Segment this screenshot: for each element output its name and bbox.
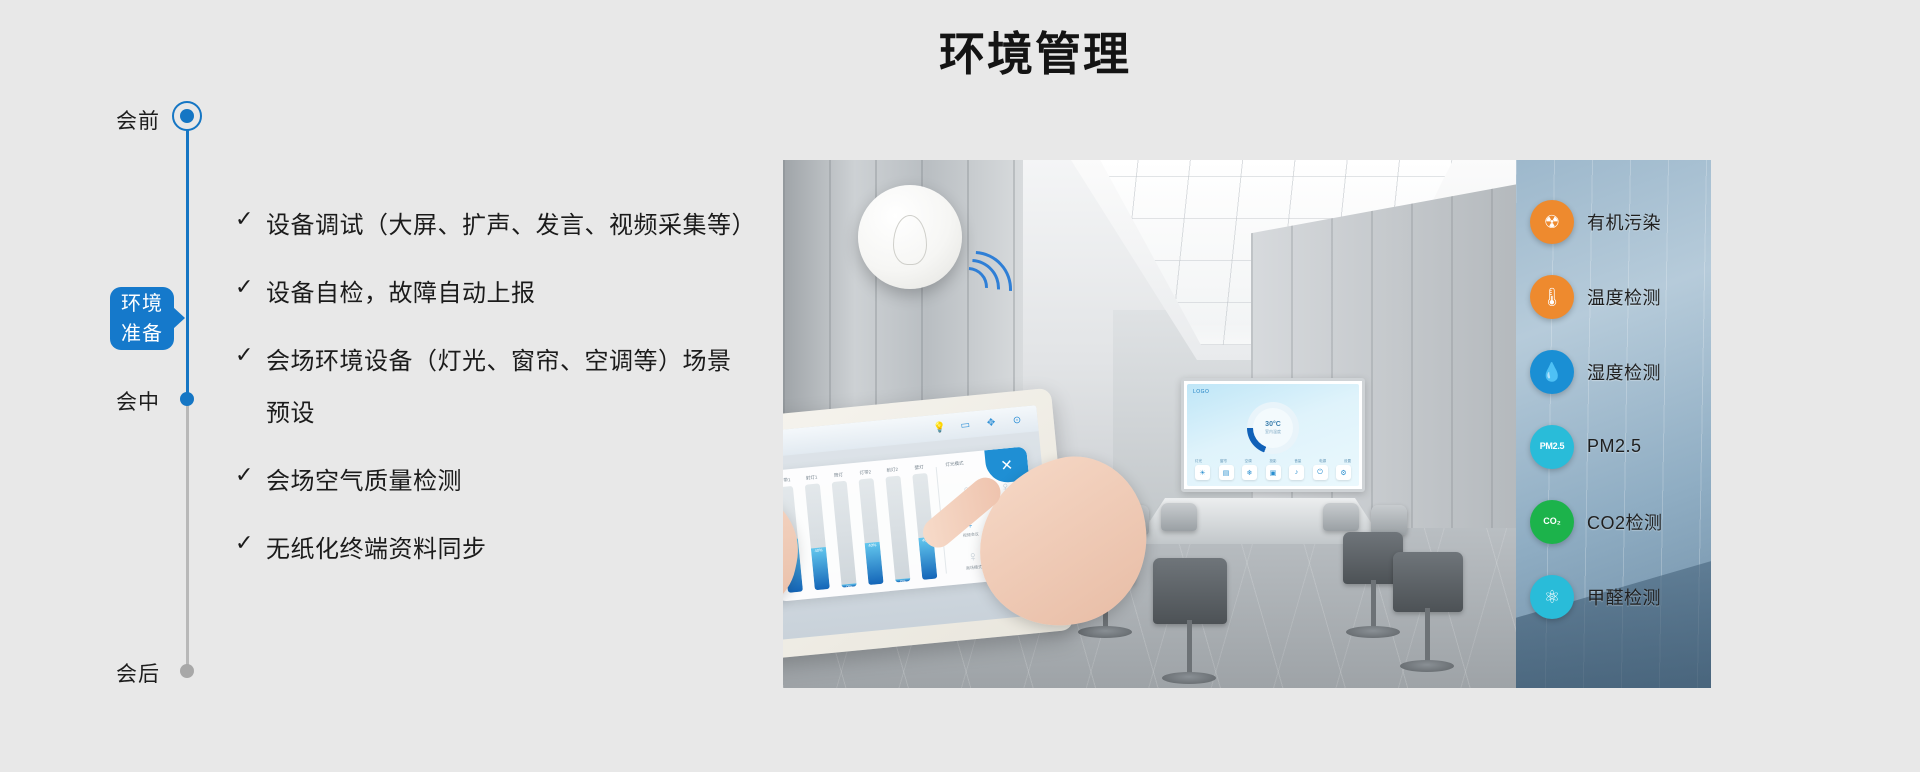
display-curtain-icon[interactable]: ▤ <box>1219 465 1234 480</box>
chair-base <box>1346 626 1400 638</box>
timeline-dot-icon <box>180 109 194 123</box>
scene-label: 离场模式 <box>966 564 983 572</box>
display-icon-label: 音量 <box>1294 459 1301 464</box>
chair-stem <box>1425 608 1430 664</box>
display-icon-labels: 灯光 窗帘 空调 投影 音量 电源 设置 <box>1195 459 1351 464</box>
co2-icon-text: CO₂ <box>1543 517 1561 526</box>
slider-value: 40% <box>811 547 826 553</box>
chair <box>1371 505 1407 535</box>
slider-value: 40% <box>865 541 880 547</box>
slider-caption: 射灯1 <box>806 475 818 482</box>
chair-stem <box>1371 580 1376 632</box>
sensor-list: ☢ 有机污染 🌡 温度检测 💧 湿度检测 PM2.5 PM2.5 CO₂ CO2… <box>1530 184 1705 634</box>
stage-badge-line1: 环境 <box>110 289 174 319</box>
list-item-label: 设备调试（大屏、扩声、发言、视频采集等） <box>266 200 752 252</box>
timeline: 会前 会中 会后 环境 准备 <box>0 0 260 772</box>
timeline-label-during: 会中 <box>40 386 160 416</box>
check-icon: ✓ <box>232 200 266 238</box>
tablet-curtain-icon[interactable]: ▭ <box>958 418 972 432</box>
tablet-light-icon[interactable]: 💡 <box>932 420 946 434</box>
temperature-gauge: 30°C 室内温度 <box>1247 402 1299 454</box>
scene-section-label: 灯光模式 <box>945 460 963 468</box>
pm25-cloud-icon: PM2.5 <box>1530 425 1574 469</box>
display-icon-label: 窗帘 <box>1220 459 1227 464</box>
check-icon: ✓ <box>232 268 266 306</box>
timeline-dot-icon <box>180 392 194 406</box>
sensor-label: 有机污染 <box>1587 209 1661 235</box>
stage-badge: 环境 准备 <box>110 287 174 350</box>
list-item-label: 会场空气质量检测 <box>266 456 462 508</box>
display-power-icon[interactable]: ⏻ <box>1313 465 1328 480</box>
slider-track[interactable]: 40% <box>859 478 884 585</box>
radiation-icon: ☢ <box>1530 200 1574 244</box>
temperature-gauge-inner: 30°C 室内温度 <box>1253 408 1293 448</box>
light-slider[interactable]: 筒灯 0% <box>830 472 858 588</box>
signal-waves-icon <box>948 245 1038 335</box>
chair <box>1161 503 1197 531</box>
scene-label: 视频会议 <box>963 531 980 539</box>
molecule-icon: ⚛ <box>1530 575 1574 619</box>
chair-stem <box>1187 620 1192 676</box>
slider-value: 0% <box>895 578 910 583</box>
display-settings-icon[interactable]: ⚙ <box>1336 465 1351 480</box>
display-ac-icon[interactable]: ❄ <box>1242 465 1257 480</box>
sensor-item-co2[interactable]: CO₂ CO2检测 <box>1530 484 1705 559</box>
chair-base <box>1078 626 1132 638</box>
chair-base <box>1162 672 1216 684</box>
co2-cloud-icon: CO₂ <box>1530 500 1574 544</box>
temperature-caption: 室内温度 <box>1265 429 1281 435</box>
sensor-overlay-panel: ☢ 有机污染 🌡 温度检测 💧 湿度检测 PM2.5 PM2.5 CO₂ CO2… <box>1516 160 1711 688</box>
tablet-more-icon[interactable]: ⊙ <box>1010 413 1024 427</box>
list-item: ✓ 设备自检，故障自动上报 <box>232 268 752 320</box>
wall-display[interactable]: LOGO 30°C 室内温度 灯光 窗帘 空调 投影 音量 电源 设置 ☀ ▤ … <box>1181 378 1365 492</box>
slider-caption: 射灯2 <box>886 467 898 474</box>
sensor-item-organic[interactable]: ☢ 有机污染 <box>1530 184 1705 259</box>
slider-caption: 灯带2 <box>859 469 871 476</box>
feature-list: ✓ 设备调试（大屏、扩声、发言、视频采集等） ✓ 设备自检，故障自动上报 ✓ 会… <box>232 200 752 592</box>
display-projector-icon[interactable]: ▣ <box>1266 465 1281 480</box>
sensor-item-humidity[interactable]: 💧 湿度检测 <box>1530 334 1705 409</box>
check-icon: ✓ <box>232 524 266 562</box>
water-drop-icon: 💧 <box>1530 350 1574 394</box>
chair-base <box>1400 660 1454 672</box>
chair <box>1323 503 1359 531</box>
sensor-label: PM2.5 <box>1587 436 1642 457</box>
sensor-label: 湿度检测 <box>1587 359 1661 385</box>
wall-display-screen: LOGO 30°C 室内温度 灯光 窗帘 空调 投影 音量 电源 设置 ☀ ▤ … <box>1187 384 1359 486</box>
list-item: ✓ 会场空气质量检测 <box>232 456 752 508</box>
sensor-lens-icon <box>893 215 927 265</box>
display-icon-label: 电源 <box>1319 459 1326 464</box>
slider-value: 0% <box>841 583 856 588</box>
bulb-icon: ♀ <box>967 548 979 563</box>
list-item-label: 无纸化终端资料同步 <box>266 524 487 576</box>
pm25-icon-text: PM2.5 <box>1540 442 1565 451</box>
sensor-label: 甲醛检测 <box>1587 584 1661 610</box>
check-icon: ✓ <box>232 456 266 494</box>
sensor-item-pm25[interactable]: PM2.5 PM2.5 <box>1530 409 1705 484</box>
list-item-label: 设备自检，故障自动上报 <box>266 268 536 320</box>
chair <box>1393 552 1463 612</box>
temperature-value: 30°C <box>1265 421 1281 428</box>
timeline-line-inactive <box>186 399 189 671</box>
sensor-label: CO2检测 <box>1587 509 1663 535</box>
stage-badge-line2: 准备 <box>110 319 174 349</box>
light-slider[interactable]: 灯带2 40% <box>857 469 885 585</box>
display-light-icon[interactable]: ☀ <box>1195 465 1210 480</box>
list-item: ✓ 会场环境设备（灯光、窗帘、空调等）场景预设 <box>232 336 752 440</box>
light-sliders: 灯带1 50% 射灯1 40% 筒灯 0% <box>783 464 938 593</box>
display-volume-icon[interactable]: ♪ <box>1289 465 1304 480</box>
list-item-label: 会场环境设备（灯光、窗帘、空调等）场景预设 <box>266 336 752 440</box>
display-icon-label: 投影 <box>1269 459 1276 464</box>
chair <box>1153 558 1227 624</box>
sensor-item-formaldehyde[interactable]: ⚛ 甲醛检测 <box>1530 559 1705 634</box>
list-item: ✓ 无纸化终端资料同步 <box>232 524 752 576</box>
conference-room-photo: LOGO 30°C 室内温度 灯光 窗帘 空调 投影 音量 电源 设置 ☀ ▤ … <box>783 160 1711 688</box>
slider-track[interactable]: 40% <box>805 483 830 590</box>
display-icon-label: 灯光 <box>1195 459 1202 464</box>
display-icon-label: 设置 <box>1344 459 1351 464</box>
display-logo: LOGO <box>1193 389 1209 395</box>
slider-caption: 灯带1 <box>783 477 791 484</box>
light-slider[interactable]: 射灯1 40% <box>803 474 831 590</box>
display-icon-label: 空调 <box>1245 459 1252 464</box>
thermometer-icon: 🌡 <box>1530 275 1574 319</box>
check-icon: ✓ <box>232 336 266 374</box>
display-icon-row: ☀ ▤ ❄ ▣ ♪ ⏻ ⚙ <box>1195 465 1351 480</box>
page-title: 环境管理 <box>0 18 1920 84</box>
slider-track[interactable]: 0% <box>885 476 910 583</box>
slider-caption: 筒灯 <box>834 472 844 479</box>
light-slider[interactable]: 射灯2 0% <box>884 466 912 582</box>
timeline-line-active <box>186 116 189 399</box>
list-item: ✓ 设备调试（大屏、扩声、发言、视频采集等） <box>232 200 752 252</box>
slider-track[interactable]: 0% <box>832 481 857 588</box>
sensor-item-temperature[interactable]: 🌡 温度检测 <box>1530 259 1705 334</box>
timeline-dot-icon <box>180 664 194 678</box>
timeline-label-after: 会后 <box>40 658 160 688</box>
sensor-label: 温度检测 <box>1587 284 1661 310</box>
tablet-ac-icon[interactable]: ✥ <box>984 416 998 430</box>
slider-caption: 壁灯 <box>914 464 924 471</box>
timeline-label-before: 会前 <box>40 105 160 135</box>
